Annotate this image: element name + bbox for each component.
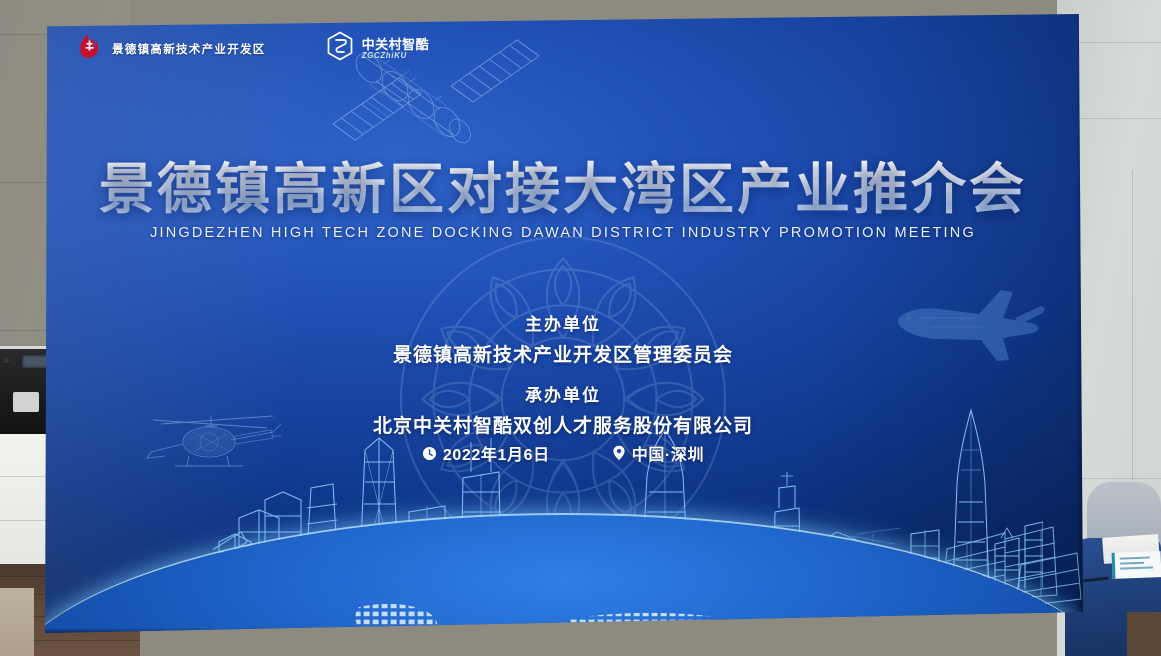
coffee-machine-cup: [13, 392, 39, 412]
event-backdrop-board: 景德镇高新技术产业开发区 中关村智酷 ZGCZhiKU 景德镇高新区对接大湾区产…: [43, 14, 1083, 633]
logo-zgc-label-cn: 中关村智酷: [362, 38, 430, 51]
event-date-text: 2022年1月6日: [443, 441, 550, 465]
organizers-block: 主办单位 景德镇高新技术产业开发区管理委员会 承办单位 北京中关村智酷双创人才服…: [43, 310, 1083, 438]
organizer-name: 北京中关村智酷双创人才服务股份有限公司: [43, 411, 1083, 438]
event-title-block: 景德镇高新区对接大湾区产业推介会 JINGDEZHEN HIGH TECH ZO…: [43, 160, 1083, 241]
flame-logo-icon: [74, 31, 104, 66]
conference-room-scene: 景德镇高新技术产业开发区 中关村智酷 ZGCZhiKU 景德镇高新区对接大湾区产…: [0, 0, 1161, 656]
event-location: 中国·深圳: [612, 441, 704, 465]
hexagon-z-logo-icon: [326, 31, 354, 66]
clock-icon: [422, 446, 437, 461]
floor-right: [1127, 612, 1161, 656]
logo-jingdezhen-label: 景德镇高新技术产业开发区: [112, 41, 266, 57]
logo-jingdezhen-hi-tech-zone: 景德镇高新技术产业开发区: [74, 31, 266, 66]
info-card: [1112, 551, 1161, 579]
event-location-text: 中国·深圳: [632, 441, 704, 465]
logo-zgc-zhiku: 中关村智酷 ZGCZhiKU: [326, 31, 430, 66]
event-meta-row: 2022年1月6日 中国·深圳: [43, 441, 1083, 465]
page-subtitle: JINGDEZHEN HIGH TECH ZONE DOCKING DAWAN …: [43, 225, 1083, 241]
logo-zgc-label-en: ZGCZhiKU: [362, 52, 430, 60]
organizer-label: 承办单位: [43, 381, 1083, 406]
host-name: 景德镇高新技术产业开发区管理委员会: [43, 340, 1083, 367]
sponsor-logo-row: 景德镇高新技术产业开发区 中关村智酷 ZGCZhiKU: [74, 31, 429, 66]
floor-light-patch: [0, 588, 34, 656]
page-title: 景德镇高新区对接大湾区产业推介会: [43, 160, 1083, 218]
host-label: 主办单位: [43, 310, 1083, 335]
event-date: 2022年1月6日: [422, 441, 550, 465]
location-pin-icon: [612, 445, 626, 461]
